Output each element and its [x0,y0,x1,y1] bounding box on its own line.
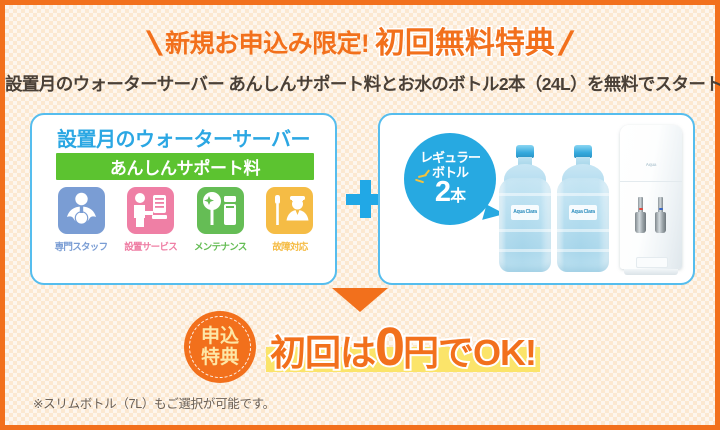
dispenser-brand: Aqua [640,161,662,169]
dispenser-body [620,125,682,269]
offer-text: 初回は0円でOK! [270,318,536,376]
service-label-install: 設置サービス [119,239,183,253]
dispenser-base [624,269,678,275]
water-bottle-icon: Aqua Clara [498,145,552,273]
maintenance-icon [197,187,244,234]
bubble-line-1: レギュラー [420,151,480,165]
headline: \ 新規お申込み限定! 初回無料特典 / [5,27,715,61]
bubble-count: 2本 [435,178,465,207]
service-item-install: 設置サービス [119,187,183,279]
bubble-count-unit: 本 [450,188,465,205]
offer-middle: で [438,332,473,373]
headline-emphasis: 初回無料特典 [375,29,555,59]
water-bottles: Aqua Clara Aqua Clara [498,145,614,275]
bottle-label: Aqua Clara [569,205,597,220]
offer-panels: 設置月のウォーターサーバー あんしんサポート料 専門スタッフ [30,113,695,285]
promo-banner: \ 新規お申込み限定! 初回無料特典 / 設置月のウォーターサーバー あんしんサ… [0,0,720,430]
dispenser-seam [620,181,682,182]
offer-badge-line-2: 特典 [201,347,239,368]
bottle-label: Aqua Clara [511,205,539,220]
offer-headline: 初回は0円でOK! [270,320,536,374]
support-fee-bar: あんしんサポート料 [56,153,314,180]
dispenser-drip-tray [636,257,668,268]
offer-badge: 申込 特典 [184,311,256,383]
repair-icon [266,187,313,234]
down-arrow-icon [332,288,388,312]
staff-icon [58,187,105,234]
footnote: ※スリムボトル（7L）もご選択が可能です。 [33,393,275,412]
hot-tap-icon [635,197,646,233]
service-item-repair: 故障対応 [258,187,322,279]
sub-headline: 設置月のウォーターサーバー あんしんサポート料とお水のボトル2本（24L）を無料… [5,71,715,96]
support-panel-title: 設置月のウォーターサーバー [32,123,335,152]
service-label-repair: 故障対応 [258,239,322,253]
service-label-maintenance: メンテナンス [188,239,252,253]
water-dispenser-icon: Aqua [620,125,682,277]
headline-slash-right: / [555,27,576,61]
offer-amount: 0 [375,317,403,377]
offer-row: 申込 特典 初回は0円でOK! [5,311,715,383]
headline-prefix: 新規お申込み限定! [165,32,369,57]
sparkle-icon [414,172,432,188]
offer-suffix: OK! [473,332,536,373]
bottles-panel: レギュラー ボトル 2本 Aqua Clara [378,113,695,285]
cold-tap-icon [655,197,666,233]
install-service-icon [127,187,174,234]
headline-slash-left: \ [144,27,165,61]
bubble-count-number: 2 [435,176,450,208]
service-item-staff: 専門スタッフ [49,187,113,279]
offer-currency: 円 [403,332,438,373]
water-bottle-icon: Aqua Clara [556,145,610,273]
service-item-maintenance: メンテナンス [188,187,252,279]
offer-prefix: 初回は [270,332,375,373]
offer-badge-line-1: 申込 [201,326,239,347]
service-icon-row: 専門スタッフ [49,187,322,279]
support-panel: 設置月のウォーターサーバー あんしんサポート料 専門スタッフ [30,113,337,285]
service-label-staff: 専門スタッフ [49,239,113,253]
